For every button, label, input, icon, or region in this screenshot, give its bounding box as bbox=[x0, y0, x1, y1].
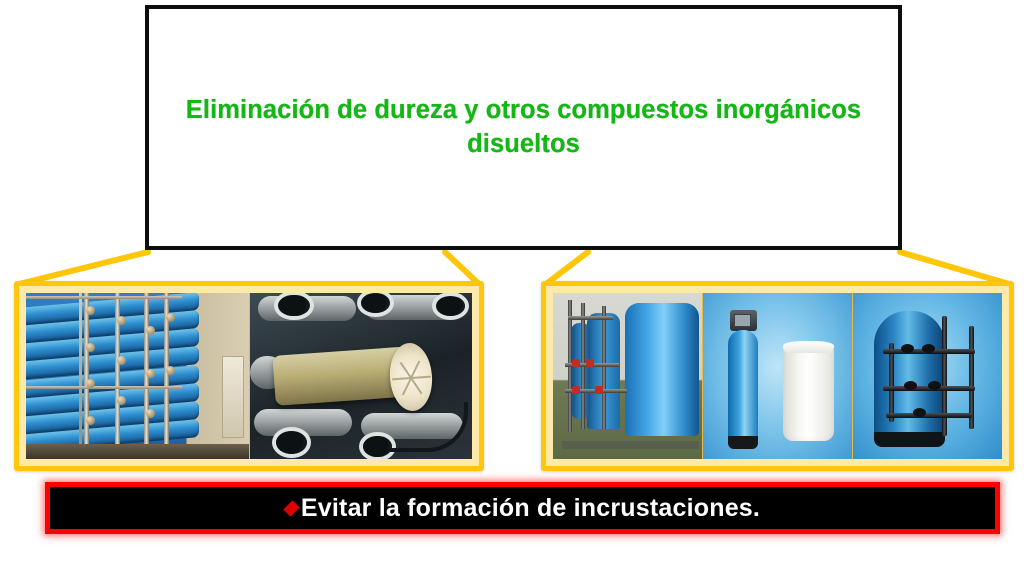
photo-ro-membrane-skid bbox=[26, 293, 249, 459]
photo-fouled-membrane-element bbox=[249, 293, 473, 459]
tail-right-outer bbox=[900, 252, 1009, 284]
right-photo-callout[interactable] bbox=[541, 281, 1014, 471]
photo-softener-with-brine-tank bbox=[702, 293, 852, 459]
photo-softener-tank-plant bbox=[553, 293, 702, 459]
slide-canvas: Eliminación de dureza y otros compuestos… bbox=[0, 0, 1024, 563]
tail-left-inner bbox=[445, 252, 479, 284]
tail-left-outer bbox=[19, 252, 148, 284]
banner-text: Evitar la formación de incrustaciones. bbox=[301, 494, 760, 523]
tail-right-inner bbox=[546, 252, 588, 284]
diamond-bullet-icon bbox=[283, 500, 299, 516]
conclusion-banner: Evitar la formación de incrustaciones. bbox=[45, 482, 1000, 534]
left-photo-callout[interactable] bbox=[14, 281, 484, 471]
page-title: Eliminación de dureza y otros compuestos… bbox=[149, 94, 898, 161]
title-box: Eliminación de dureza y otros compuestos… bbox=[145, 5, 902, 250]
photo-blue-filter-vessel bbox=[852, 293, 1002, 459]
